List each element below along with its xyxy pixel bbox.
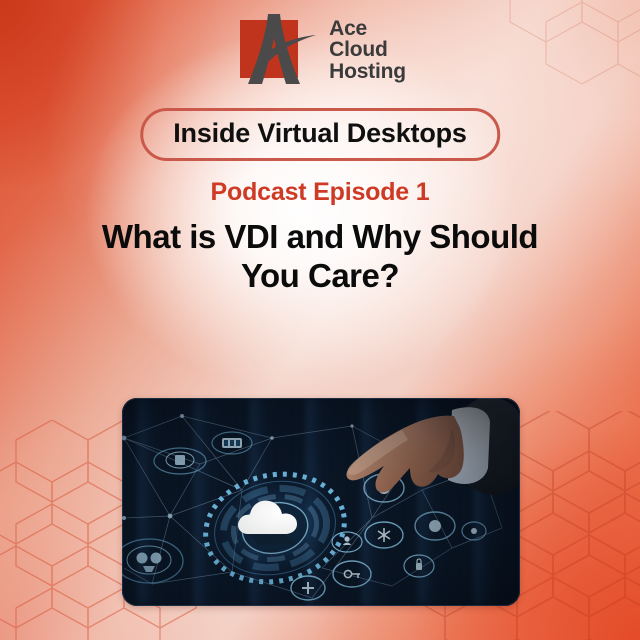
episode-label-row: Podcast Episode 1 [0, 178, 640, 207]
brand-name-line-3: Hosting [329, 61, 406, 82]
brand-name: Ace Cloud Hosting [329, 18, 406, 82]
brand-logo: Ace Cloud Hosting [0, 8, 640, 92]
headline-line-2: You Care? [38, 257, 602, 296]
brand-name-line-1: Ace [329, 18, 406, 39]
brand-name-line-2: Cloud [329, 39, 406, 60]
hero-vignette [122, 398, 520, 606]
headline-line-1: What is VDI and Why Should [38, 218, 602, 257]
show-title-pill: Inside Virtual Desktops [140, 108, 500, 161]
episode-label: Podcast Episode 1 [211, 178, 430, 206]
hero-image-card [122, 398, 520, 606]
page-title: What is VDI and Why Should You Care? [38, 218, 602, 295]
show-title: Inside Virtual Desktops [173, 118, 467, 148]
podcast-cover-poster: Ace Cloud Hosting Inside Virtual Desktop… [0, 0, 640, 640]
ace-a-logo-icon [234, 8, 318, 92]
